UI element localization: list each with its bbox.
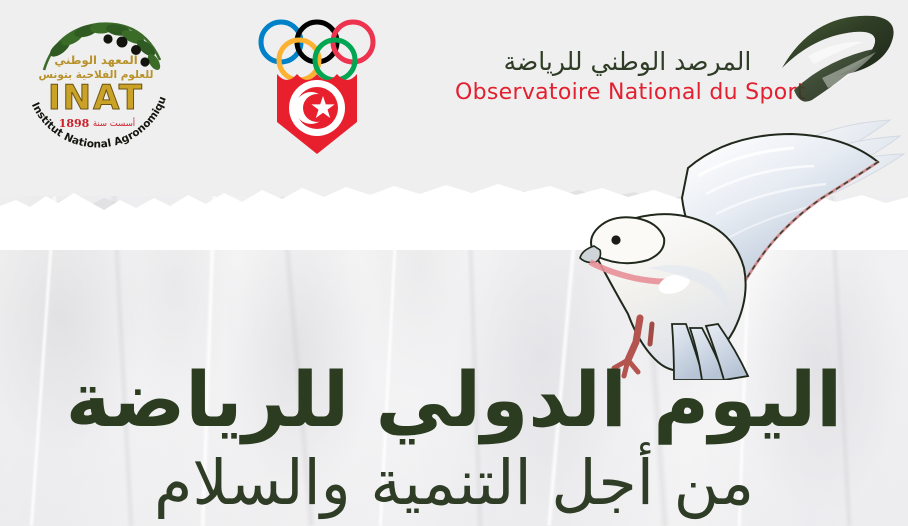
observatory-swoosh-mark (778, 6, 902, 110)
flying-dove-illustration (578, 118, 908, 380)
inat-founded-label: أسست سنة (93, 117, 135, 129)
observatory-name-arabic: المرصد الوطني للرياضة (455, 48, 800, 77)
inat-acronym: INAT (48, 78, 144, 118)
inat-logo: المعهد الوطني للعلوم الفلاحية بتونس INAT… (14, 12, 179, 162)
dove-eye (611, 235, 620, 244)
inat-founded-year: 1898 (59, 117, 90, 130)
poster-canvas: المعهد الوطني للعلوم الفلاحية بتونس INAT… (0, 0, 908, 526)
inat-arabic-line1: المعهد الوطني (54, 53, 137, 68)
olympic-rings (261, 22, 373, 80)
observatory-name-french: Observatoire National du Sport (455, 80, 800, 106)
dove-beak (580, 246, 601, 263)
tunisian-olympic-committee-emblem (255, 12, 380, 160)
observatory-wordmark: المرصد الوطني للرياضة Observatoire Natio… (455, 48, 800, 106)
poster-title: اليوم الدولي للرياضة (0, 362, 908, 438)
poster-subtitle: من أجل التنمية والسلام (0, 452, 908, 514)
tunisia-shield (277, 74, 357, 154)
